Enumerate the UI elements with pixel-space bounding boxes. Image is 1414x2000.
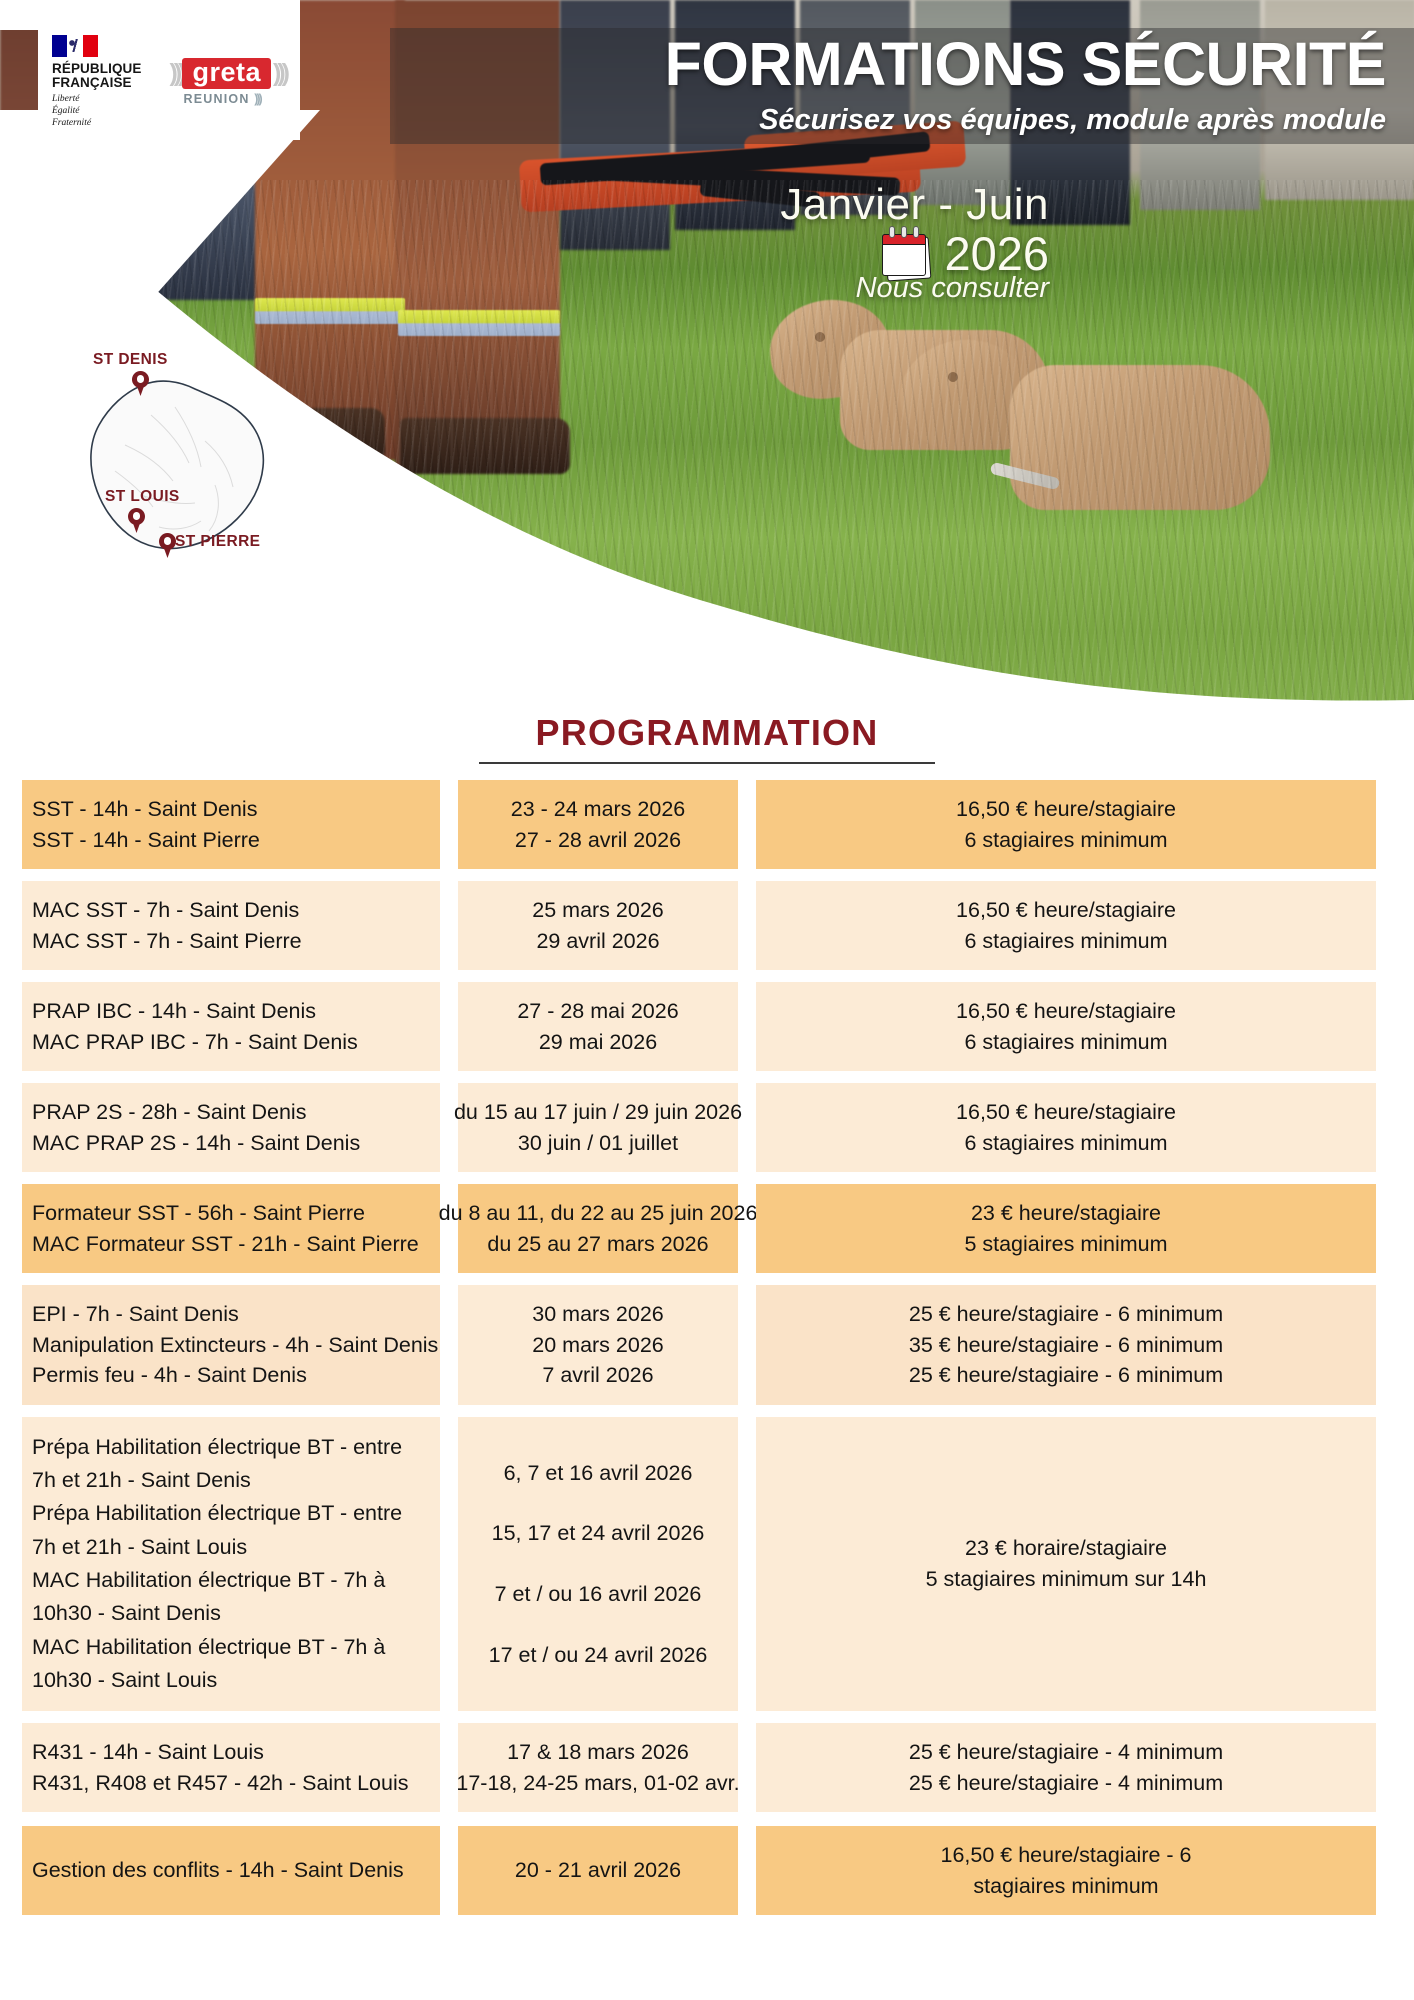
map-label-st-denis: ST DENIS	[93, 351, 168, 369]
map-label-st-louis: ST LOUIS	[105, 488, 180, 506]
greta-wordmark: ))) greta )))	[170, 58, 287, 88]
table-row: SST - 14h - Saint DenisSST - 14h - Saint…	[22, 780, 1392, 869]
logo-card: RÉPUBLIQUE FRANÇAISE Liberté Égalité Fra…	[38, 30, 296, 134]
cell-dates: 17 & 18 mars 202617-18, 24-25 mars, 01-0…	[458, 1723, 738, 1812]
programme-heading: PROGRAMMATION	[0, 712, 1414, 764]
cell-dates: 27 - 28 mai 202629 mai 2026	[458, 982, 738, 1071]
cell-course: Gestion des conflits - 14h - Saint Denis	[22, 1826, 440, 1915]
greta-logo: ))) greta ))) REUNION )))	[170, 58, 287, 105]
reunion-island-map: ST DENIS ST LOUIS ST PIERRE	[55, 345, 295, 575]
republic-motto: Liberté Égalité Fraternité	[52, 94, 156, 129]
cell-dates: 30 mars 202620 mars 20267 avril 2026	[458, 1285, 738, 1405]
cell-dates: 23 - 24 mars 202627 - 28 avril 2026	[458, 780, 738, 869]
cell-course: PRAP IBC - 14h - Saint DenisMAC PRAP IBC…	[22, 982, 440, 1071]
cell-dates: 25 mars 202629 avril 2026	[458, 881, 738, 970]
greta-name: greta	[182, 58, 271, 88]
greta-region-row: REUNION )))	[184, 92, 261, 106]
cell-price: 25 € heure/stagiaire - 6 minimum35 € heu…	[756, 1285, 1376, 1405]
cell-course: Prépa Habilitation électrique BT - entre…	[22, 1417, 440, 1712]
table-row: EPI - 7h - Saint DenisManipulation Extin…	[22, 1285, 1392, 1405]
table-row: PRAP IBC - 14h - Saint DenisMAC PRAP IBC…	[22, 982, 1392, 1071]
cell-dates: 6, 7 et 16 avril 202615, 17 et 24 avril …	[458, 1417, 738, 1712]
greta-chevrons-icon: )))	[254, 92, 261, 106]
poster-root: RÉPUBLIQUE FRANÇAISE Liberté Égalité Fra…	[0, 0, 1414, 2000]
table-row: Prépa Habilitation électrique BT - entre…	[22, 1417, 1392, 1712]
map-pin-icon	[128, 508, 145, 532]
heading-divider	[479, 762, 935, 764]
motto-egalite: Égalité	[52, 106, 156, 118]
cell-price: 16,50 € heure/stagiaire6 stagiaires mini…	[756, 1083, 1376, 1172]
cell-course: MAC SST - 7h - Saint DenisMAC SST - 7h -…	[22, 881, 440, 970]
cell-course: SST - 14h - Saint DenisSST - 14h - Saint…	[22, 780, 440, 869]
cell-course: Formateur SST - 56h - Saint PierreMAC Fo…	[22, 1184, 440, 1273]
date-range: Janvier - Juin	[780, 180, 1049, 230]
map-pin-icon	[159, 533, 176, 557]
republic-name: RÉPUBLIQUE FRANÇAISE	[52, 62, 156, 91]
map-label-st-pierre: ST PIERRE	[175, 533, 260, 551]
republic-line-1: RÉPUBLIQUE	[52, 62, 156, 76]
chevron-right-icon: )))	[273, 59, 286, 88]
cell-price: 23 € horaire/stagiaire5 stagiaires minim…	[756, 1417, 1376, 1712]
programme-table: SST - 14h - Saint DenisSST - 14h - Saint…	[22, 780, 1392, 1927]
greta-region: REUNION	[184, 92, 250, 106]
table-row: Formateur SST - 56h - Saint PierreMAC Fo…	[22, 1184, 1392, 1273]
cell-course: PRAP 2S - 28h - Saint DenisMAC PRAP 2S -…	[22, 1083, 440, 1172]
cell-price: 23 € heure/stagiaire5 stagiaires minimum	[756, 1184, 1376, 1273]
map-pin-icon	[132, 371, 149, 395]
cell-price: 16,50 € heure/stagiaire6 stagiaires mini…	[756, 780, 1376, 869]
cell-dates: du 8 au 11, du 22 au 25 juin 2026du 25 a…	[458, 1184, 738, 1273]
page-subtitle: Sécurisez vos équipes, module après modu…	[400, 104, 1400, 137]
cell-course: EPI - 7h - Saint DenisManipulation Extin…	[22, 1285, 440, 1405]
table-row: Gestion des conflits - 14h - Saint Denis…	[22, 1826, 1392, 1915]
page-title: FORMATIONS SÉCURITÉ	[400, 34, 1400, 95]
cell-dates: 20 - 21 avril 2026	[458, 1826, 738, 1915]
programme-title: PROGRAMMATION	[0, 712, 1414, 754]
date-note: Nous consulter	[856, 272, 1049, 305]
cell-dates: du 15 au 17 juin / 29 juin 202630 juin /…	[458, 1083, 738, 1172]
cell-price: 25 € heure/stagiaire - 4 minimum25 € heu…	[756, 1723, 1376, 1812]
table-row: R431 - 14h - Saint LouisR431, R408 et R4…	[22, 1723, 1392, 1812]
table-row: MAC SST - 7h - Saint DenisMAC SST - 7h -…	[22, 881, 1392, 970]
cell-price: 16,50 € heure/stagiaire6 stagiaires mini…	[756, 881, 1376, 970]
cell-price: 16,50 € heure/stagiaire - 6stagiaires mi…	[756, 1826, 1376, 1915]
table-row: PRAP 2S - 28h - Saint DenisMAC PRAP 2S -…	[22, 1083, 1392, 1172]
french-flag-marianne-icon	[52, 35, 98, 57]
republic-line-2: FRANÇAISE	[52, 76, 156, 90]
republique-francaise-logo: RÉPUBLIQUE FRANÇAISE Liberté Égalité Fra…	[52, 35, 156, 129]
motto-fraternite: Fraternité	[52, 118, 156, 130]
chevron-left-icon: )))	[170, 59, 183, 88]
cell-price: 16,50 € heure/stagiaire6 stagiaires mini…	[756, 982, 1376, 1071]
cell-course: R431 - 14h - Saint LouisR431, R408 et R4…	[22, 1723, 440, 1812]
motto-liberte: Liberté	[52, 94, 156, 106]
